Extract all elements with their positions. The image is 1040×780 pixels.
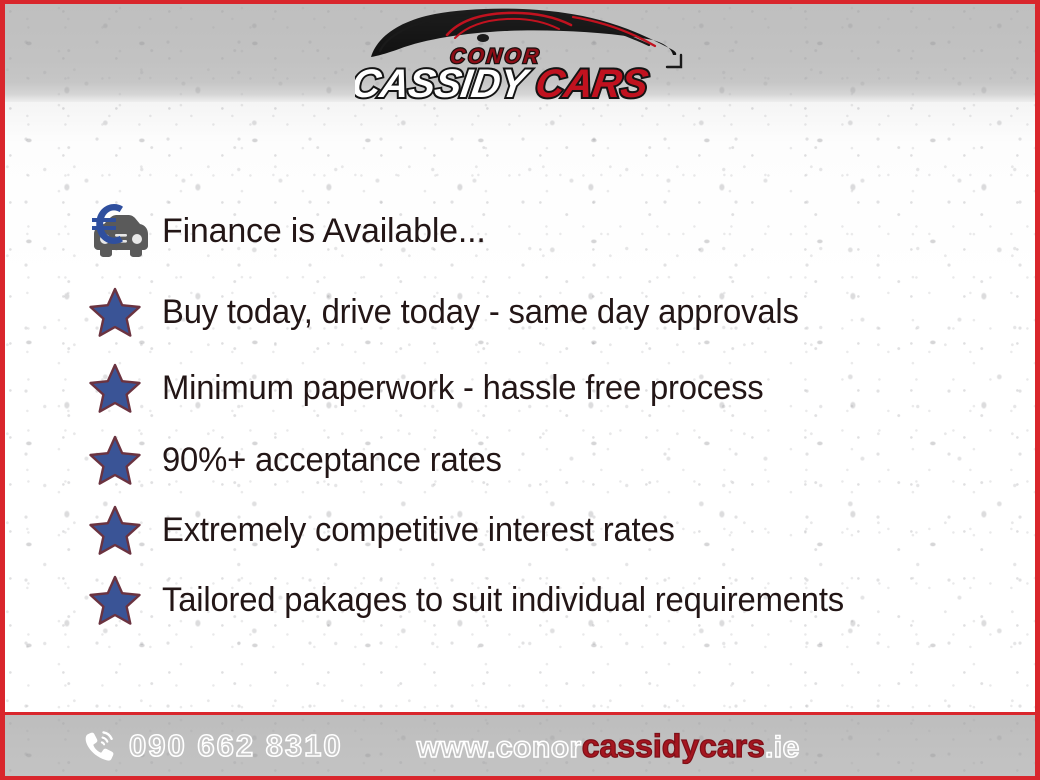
bullet-wrap — [88, 504, 162, 556]
phone-number: 090 662 8310 — [129, 728, 343, 764]
website-highlight: cassidycars — [582, 728, 765, 765]
feature-row-tailored-packages: Tailored pakages to suit individual requ… — [88, 574, 869, 626]
footer-band: 090 662 8310 www.conor cassidycars .ie — [4, 712, 1036, 777]
feature-text: Tailored pakages to suit individual requ… — [162, 583, 844, 617]
star-icon — [88, 286, 142, 338]
bullet-wrap — [88, 434, 162, 486]
feature-text: Minimum paperwork - hassle free process — [162, 371, 763, 405]
header-band: CONOR CASSIDY CARS — [4, 3, 1036, 102]
feature-row-finance: Finance is Available... — [88, 200, 486, 262]
logo-cars-text: CARS — [533, 61, 651, 102]
website-suffix: .ie — [765, 731, 800, 765]
bullet-wrap — [88, 574, 162, 626]
star-icon — [88, 434, 142, 486]
car-euro-finance-icon — [84, 200, 150, 262]
feature-row-same-day-approvals: Buy today, drive today - same day approv… — [88, 286, 822, 338]
website-url[interactable]: www.conor cassidycars .ie — [417, 728, 800, 765]
feature-row-minimum-paperwork: Minimum paperwork - hassle free process — [88, 362, 785, 414]
bullet-wrap — [88, 286, 162, 338]
phone-contact[interactable]: 090 662 8310 — [82, 728, 343, 764]
feature-row-acceptance-rates: 90%+ acceptance rates — [88, 434, 514, 486]
website-prefix: www.conor — [417, 731, 582, 765]
star-icon — [88, 574, 142, 626]
feature-text: Extremely competitive interest rates — [162, 513, 675, 547]
phone-ringing-icon — [82, 728, 118, 764]
bullet-wrap — [88, 362, 162, 414]
feature-list: Finance is Available... Buy today, drive… — [4, 100, 1036, 712]
logo-cassidy-text: CASSIDY — [355, 61, 533, 102]
body-area: Finance is Available... Buy today, drive… — [4, 100, 1036, 712]
feature-row-interest-rates: Extremely competitive interest rates — [88, 504, 693, 556]
feature-text: Buy today, drive today - same day approv… — [162, 295, 799, 329]
star-icon — [88, 504, 142, 556]
feature-text: Finance is Available... — [162, 214, 486, 248]
promo-poster: CONOR CASSIDY CARS — [0, 0, 1040, 780]
brand-logo[interactable]: CONOR CASSIDY CARS — [355, 5, 685, 102]
star-icon — [88, 362, 142, 414]
logo-svg: CONOR CASSIDY CARS — [355, 5, 685, 102]
bullet-wrap — [88, 200, 162, 262]
feature-text: 90%+ acceptance rates — [162, 443, 502, 477]
